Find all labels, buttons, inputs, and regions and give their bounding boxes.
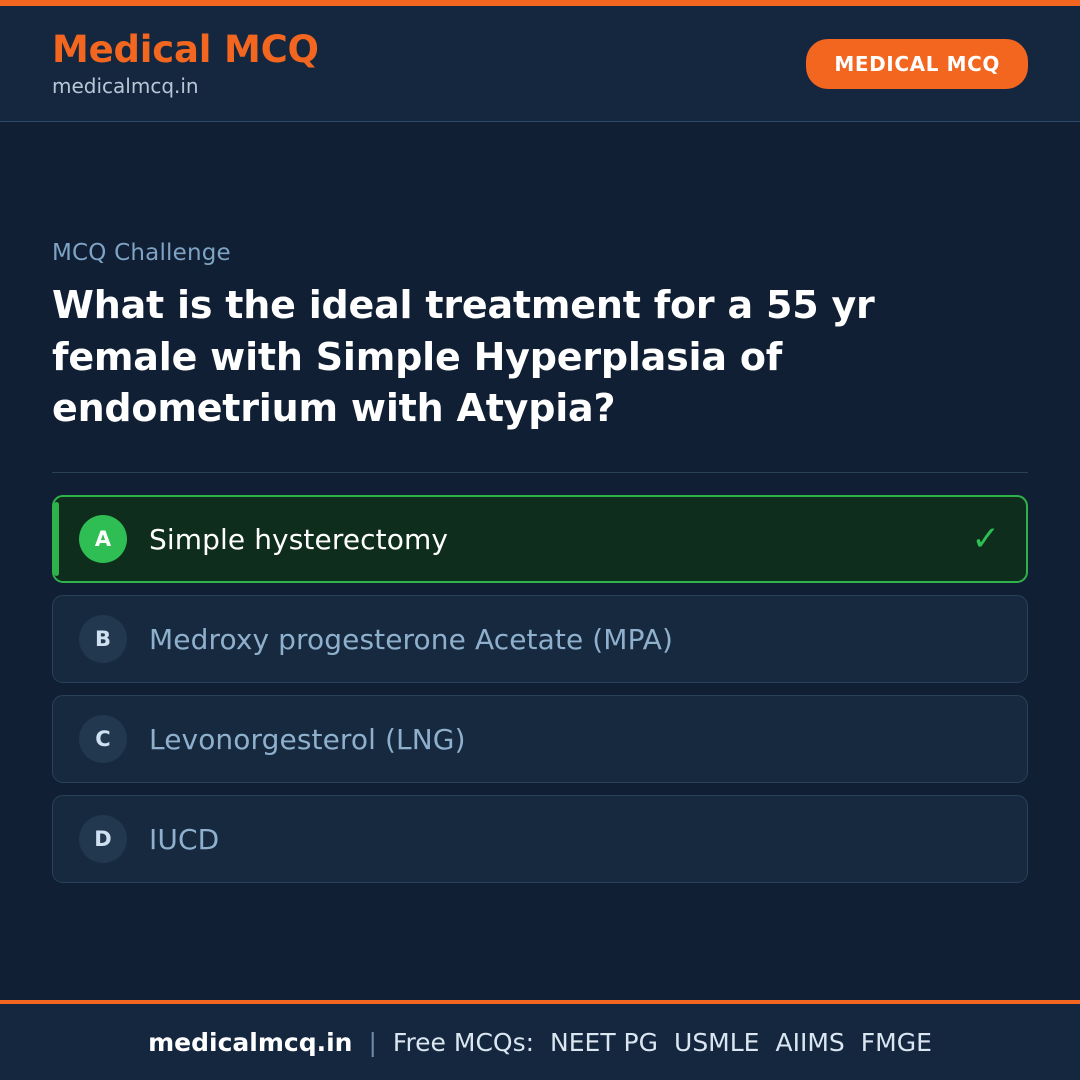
option-a-label: Simple hysterectomy: [149, 523, 448, 556]
option-d[interactable]: D IUCD: [52, 795, 1028, 883]
question-text: What is the ideal treatment for a 55 yr …: [52, 280, 1028, 435]
content-spacer: [52, 883, 1028, 1000]
eyebrow-label: MCQ Challenge: [52, 240, 1028, 266]
option-b[interactable]: B Medroxy progesterone Acetate (MPA): [52, 595, 1028, 683]
option-c-letter: C: [79, 715, 127, 763]
question-divider: [52, 472, 1028, 473]
footer-exam-usmle: USMLE: [674, 1028, 759, 1057]
option-c-label: Levonorgesterol (LNG): [149, 723, 466, 756]
main-content: MCQ Challenge What is the ideal treatmen…: [0, 122, 1080, 1000]
footer-exam-neet-pg: NEET PG: [550, 1028, 658, 1057]
header-bar: Medical MCQ medicalmcq.in MEDICAL MCQ: [0, 6, 1080, 122]
option-a[interactable]: A Simple hysterectomy ✓: [52, 495, 1028, 583]
footer-bar: medicalmcq.in | Free MCQs: NEET PG USMLE…: [0, 1004, 1080, 1080]
option-a-letter: A: [79, 515, 127, 563]
footer-exam-fmge: FMGE: [861, 1028, 932, 1057]
footer-site: medicalmcq.in: [148, 1028, 352, 1057]
option-b-letter: B: [79, 615, 127, 663]
brand-badge: MEDICAL MCQ: [806, 39, 1028, 89]
footer-separator: |: [368, 1028, 376, 1057]
option-d-letter: D: [79, 815, 127, 863]
option-c[interactable]: C Levonorgesterol (LNG): [52, 695, 1028, 783]
footer-exam-aiims: AIIMS: [775, 1028, 844, 1057]
options-list: A Simple hysterectomy ✓ B Medroxy proges…: [52, 495, 1028, 883]
brand-block: Medical MCQ medicalmcq.in: [52, 30, 319, 97]
option-b-label: Medroxy progesterone Acetate (MPA): [149, 623, 673, 656]
brand-subtitle: medicalmcq.in: [52, 75, 319, 97]
brand-title: Medical MCQ: [52, 30, 319, 70]
check-icon: ✓: [972, 522, 1001, 556]
mcq-card: Medical MCQ medicalmcq.in MEDICAL MCQ MC…: [0, 0, 1080, 1080]
option-d-label: IUCD: [149, 823, 219, 856]
footer-free-label: Free MCQs:: [393, 1028, 534, 1057]
